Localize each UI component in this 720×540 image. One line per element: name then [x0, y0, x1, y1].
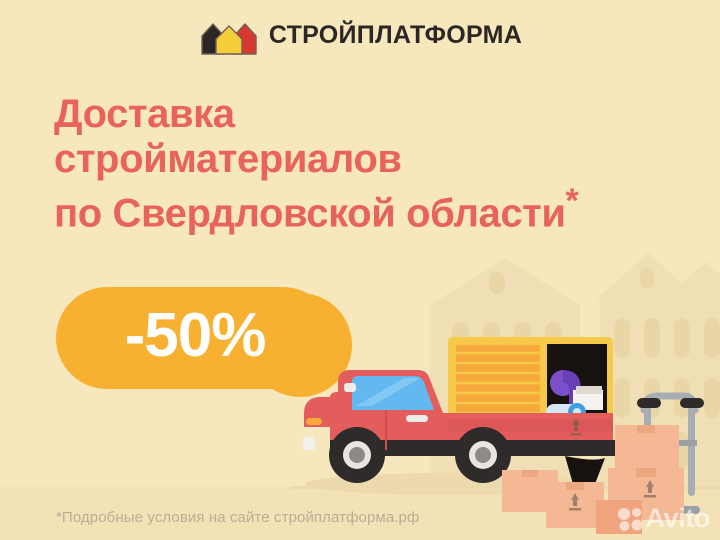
brand-logo[interactable]: СТРОЙПЛАТФОРМА [0, 14, 720, 56]
door-handle [406, 415, 428, 422]
discount-label: -50% [125, 305, 266, 367]
logo-wordmark: СТРОЙПЛАТФОРМА [269, 23, 522, 48]
headline-line-2: стройматериалов [54, 137, 578, 182]
headline-asterisk: * [566, 182, 579, 220]
side-mirror [344, 383, 356, 392]
headline-line-3: по Свердловской области* [54, 182, 578, 236]
avito-wordmark: Avito [646, 505, 711, 532]
headline-line-1: Доставка [54, 92, 578, 137]
footnote-text: *Подробные условия на сайте стройплатфор… [56, 509, 419, 526]
headlight [303, 437, 315, 450]
delivery-illustration [0, 0, 720, 540]
discount-badge: -50% [56, 287, 334, 389]
turn-signal [306, 418, 322, 425]
truck-windshield [352, 376, 434, 410]
avito-dots-icon [617, 506, 643, 532]
headline-line-3-text: по Свердловской области [54, 191, 566, 235]
promo-banner: СТРОЙПЛАТФОРМА Доставка стройматериалов … [0, 0, 720, 540]
page-title: Доставка стройматериалов по Свердловской… [54, 92, 578, 236]
avito-watermark: Avito [617, 505, 711, 532]
three-houses-logo-icon [198, 14, 260, 56]
